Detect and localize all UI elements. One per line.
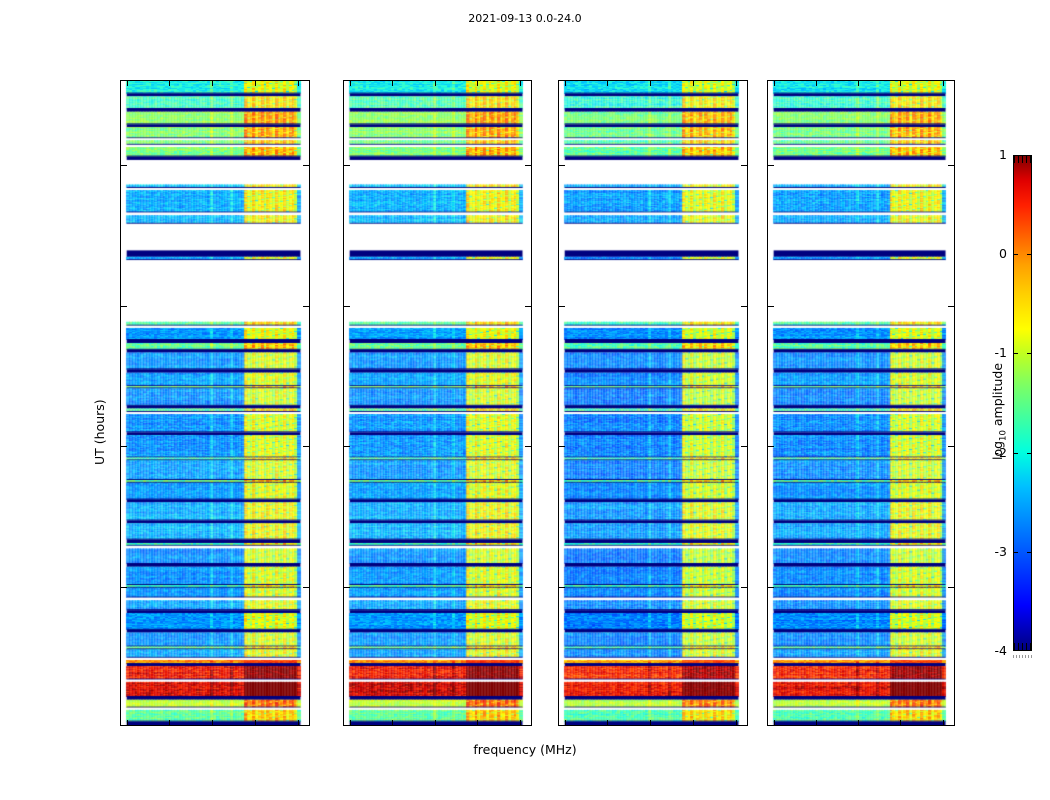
- x-tick-mark: [392, 720, 393, 725]
- y-tick-mark: [559, 587, 565, 588]
- x-tick-mark-top: [212, 81, 213, 86]
- y-tick-mark-right: [741, 587, 747, 588]
- colorbar[interactable]: [1013, 155, 1032, 651]
- colorbar-gradient: [1014, 156, 1031, 650]
- y-tick-mark-right: [303, 446, 309, 447]
- x-tick-mark: [435, 720, 436, 725]
- y-tick-mark: [559, 446, 565, 447]
- figure-suptitle: 2021-09-13 0.0-24.0: [0, 12, 1050, 25]
- x-tick-mark-top: [350, 81, 351, 86]
- x-tick-mark: [298, 720, 299, 725]
- y-tick-mark: [344, 587, 350, 588]
- x-tick-mark: [127, 720, 128, 725]
- colorbar-tick-label: -1: [973, 345, 1007, 360]
- y-tick-mark-right: [525, 165, 531, 166]
- x-tick-mark-top: [127, 81, 128, 86]
- x-tick-mark: [350, 720, 351, 725]
- y-tick-mark: [121, 165, 127, 166]
- x-tick-mark: [900, 720, 901, 725]
- x-tick-mark-top: [435, 81, 436, 86]
- x-axis-label: frequency (MHz): [0, 742, 1050, 757]
- x-tick-mark: [565, 720, 566, 725]
- x-tick-mark: [816, 720, 817, 725]
- y-tick-mark-right: [741, 165, 747, 166]
- x-tick-mark-top: [607, 81, 608, 86]
- colorbar-tick-mark: [1013, 552, 1018, 553]
- y-tick-mark-right: [741, 446, 747, 447]
- colorbar-tick-label: -3: [973, 544, 1007, 559]
- x-tick-mark-top: [858, 81, 859, 86]
- y-axis-label: UT (hours): [92, 399, 107, 465]
- colorbar-tick-mark-right: [1027, 353, 1032, 354]
- x-tick-mark-top: [392, 81, 393, 86]
- x-tick-mark: [212, 720, 213, 725]
- x-tick-mark-top: [736, 81, 737, 86]
- x-tick-mark-top: [565, 81, 566, 86]
- x-tick-mark: [477, 720, 478, 725]
- y-tick-mark-right: [303, 587, 309, 588]
- spectrogram-panel-yy[interactable]: YY, V10*V12=EA19*EA200510152032033535036…: [343, 80, 532, 726]
- y-tick-mark: [768, 306, 774, 307]
- x-tick-mark: [736, 720, 737, 725]
- x-tick-mark-top: [650, 81, 651, 86]
- y-tick-mark-right: [948, 165, 954, 166]
- spectrogram-image: [768, 81, 954, 725]
- colorbar-tick-mark-right: [1027, 552, 1032, 553]
- y-tick-mark: [559, 165, 565, 166]
- colorbar-tick-mark: [1013, 453, 1018, 454]
- x-tick-mark-top: [774, 81, 775, 86]
- x-tick-mark-top: [477, 81, 478, 86]
- colorbar-over-hatch: [1014, 156, 1031, 163]
- x-tick-mark-top: [255, 81, 256, 86]
- y-tick-mark: [768, 165, 774, 166]
- y-tick-mark-right: [303, 306, 309, 307]
- x-tick-mark: [858, 720, 859, 725]
- y-tick-mark-right: [525, 306, 531, 307]
- x-tick-mark: [943, 720, 944, 725]
- spectrogram-panel-xx[interactable]: XX, V10*V12=EA19*EA200510152032033535036…: [120, 80, 310, 726]
- x-tick-mark: [255, 720, 256, 725]
- y-tick-mark-right: [525, 446, 531, 447]
- y-tick-mark: [121, 446, 127, 447]
- x-tick-mark-top: [816, 81, 817, 86]
- y-tick-mark: [344, 165, 350, 166]
- x-tick-mark-top: [520, 81, 521, 86]
- spectrogram-panel-xy[interactable]: XY, V10*V12=EA19*EA200510152032033535036…: [558, 80, 748, 726]
- spectrogram-panel-yx[interactable]: YX, V10*V12=EA19*EA200510152032033535036…: [767, 80, 955, 726]
- colorbar-axis-label: log10 amplitude: [990, 363, 1009, 460]
- y-tick-mark: [559, 306, 565, 307]
- y-tick-mark-right: [948, 306, 954, 307]
- spectrogram-image: [121, 81, 309, 725]
- figure-canvas: 2021-09-13 0.0-24.0 XX, V10*V12=EA19*EA2…: [0, 0, 1050, 800]
- y-tick-mark: [121, 306, 127, 307]
- colorbar-tick-mark: [1013, 353, 1018, 354]
- x-tick-mark: [169, 720, 170, 725]
- y-tick-mark-right: [948, 587, 954, 588]
- colorbar-under-hatch: [1014, 643, 1031, 650]
- colorbar-tick-mark-right: [1027, 254, 1032, 255]
- y-tick-mark-right: [303, 165, 309, 166]
- colorbar-tick-mark: [1013, 254, 1018, 255]
- y-tick-mark: [768, 446, 774, 447]
- x-tick-mark-top: [693, 81, 694, 86]
- spectrogram-image: [559, 81, 747, 725]
- y-tick-mark-right: [948, 446, 954, 447]
- x-tick-mark: [693, 720, 694, 725]
- y-tick-mark-right: [525, 587, 531, 588]
- x-tick-mark-top: [169, 81, 170, 86]
- spectrogram-image: [344, 81, 531, 725]
- colorbar-tick-label: 0: [973, 246, 1007, 261]
- x-tick-mark: [650, 720, 651, 725]
- y-tick-mark: [768, 587, 774, 588]
- y-tick-mark: [121, 587, 127, 588]
- y-tick-mark: [344, 306, 350, 307]
- x-tick-mark: [520, 720, 521, 725]
- y-tick-mark: [344, 446, 350, 447]
- x-tick-mark: [607, 720, 608, 725]
- colorbar-tick-mark-right: [1027, 453, 1032, 454]
- x-tick-mark-top: [943, 81, 944, 86]
- x-tick-mark: [774, 720, 775, 725]
- colorbar-extend-marker: [1013, 655, 1032, 658]
- x-tick-mark-top: [298, 81, 299, 86]
- colorbar-tick-label: -4: [973, 643, 1007, 658]
- y-tick-mark-right: [741, 306, 747, 307]
- x-tick-mark-top: [900, 81, 901, 86]
- colorbar-tick-label: 1: [973, 147, 1007, 162]
